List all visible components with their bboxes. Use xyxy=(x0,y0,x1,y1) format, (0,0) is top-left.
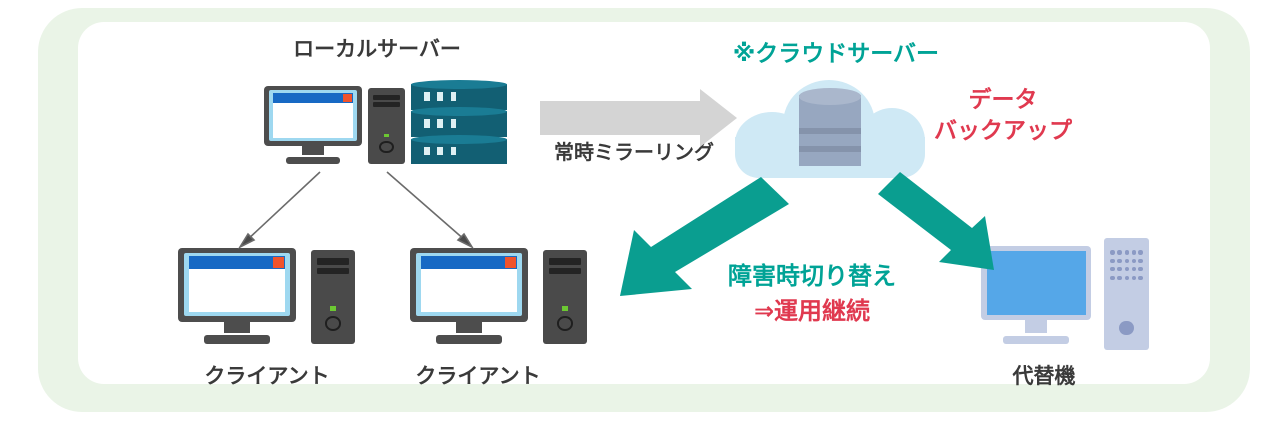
power-led-icon xyxy=(330,306,335,310)
backup-machine-monitor xyxy=(981,246,1091,344)
monitor-screen xyxy=(987,251,1086,314)
close-icon xyxy=(273,257,285,267)
data-backup-label-line2: バックアップ xyxy=(934,117,1072,144)
mirroring-label: 常時ミラーリング xyxy=(554,142,714,166)
vent-line-icon xyxy=(549,268,581,274)
monitor-inner-border xyxy=(269,90,356,141)
db-slots xyxy=(424,92,457,101)
client-1-label: クライアント xyxy=(204,365,329,390)
db-slots xyxy=(424,147,457,156)
monitor-base xyxy=(204,335,270,344)
local-server-database-icon xyxy=(411,80,507,168)
backup-machine-tower xyxy=(1104,238,1149,350)
failover-label-line1: 障害時切り替え xyxy=(728,263,896,291)
vent-line-icon xyxy=(549,258,581,264)
power-led-icon xyxy=(384,134,388,137)
client-1-monitor xyxy=(178,248,296,344)
power-button-icon xyxy=(557,316,574,331)
vent-line-icon xyxy=(317,268,349,274)
client-2-tower xyxy=(543,250,587,344)
client-2-monitor xyxy=(410,248,528,344)
db-cap xyxy=(411,80,507,89)
local-server-tower xyxy=(368,88,405,164)
local-server-monitor xyxy=(264,86,362,164)
monitor-bezel xyxy=(178,248,296,322)
local-server-title: ローカルサーバー xyxy=(293,38,461,63)
data-backup-label-line1: データ xyxy=(969,86,1038,113)
monitor-screen xyxy=(189,256,286,312)
cloud-database-icon xyxy=(799,88,861,171)
client-1-tower xyxy=(311,250,355,344)
power-button-icon xyxy=(379,141,393,153)
client-2-label: クライアント xyxy=(415,365,540,390)
monitor-bezel xyxy=(410,248,528,322)
db-cap xyxy=(411,135,507,144)
monitor-neck xyxy=(224,322,250,334)
monitor-screen xyxy=(273,93,353,138)
vent-dots-icon xyxy=(1110,250,1142,284)
monitor-base xyxy=(436,335,502,344)
db-tier xyxy=(411,80,507,110)
db-ring xyxy=(799,128,861,134)
db-tier xyxy=(411,135,507,165)
power-led-icon xyxy=(562,306,567,310)
db-slots xyxy=(424,119,457,128)
monitor-base xyxy=(1003,336,1069,344)
vent-line-icon xyxy=(317,258,349,264)
monitor-inner-border xyxy=(184,253,289,316)
failover-label-line2: ⇒運用継続 xyxy=(754,298,870,326)
db-cap xyxy=(799,88,861,105)
power-button-icon xyxy=(1119,321,1133,335)
db-ring xyxy=(799,146,861,152)
monitor-neck xyxy=(1025,320,1047,333)
monitor-bezel xyxy=(981,246,1091,320)
close-icon xyxy=(505,257,517,267)
close-icon xyxy=(343,94,353,102)
monitor-base xyxy=(286,157,341,164)
vent-line-icon xyxy=(373,102,400,107)
monitor-neck xyxy=(302,146,324,155)
monitor-neck xyxy=(456,322,482,334)
power-button-icon xyxy=(325,316,342,331)
window-titlebar xyxy=(421,256,518,268)
backup-machine-label: 代替機 xyxy=(1013,365,1076,390)
vent-line-icon xyxy=(373,95,400,100)
diagram-canvas: ローカルサーバー xyxy=(0,0,1280,430)
db-tier xyxy=(411,107,507,137)
cloud-server-title: ※クラウドサーバー xyxy=(733,40,939,67)
monitor-inner-border xyxy=(416,253,521,316)
monitor-bezel xyxy=(264,86,362,146)
monitor-screen xyxy=(421,256,518,312)
window-titlebar xyxy=(189,256,286,268)
window-titlebar xyxy=(273,93,353,103)
